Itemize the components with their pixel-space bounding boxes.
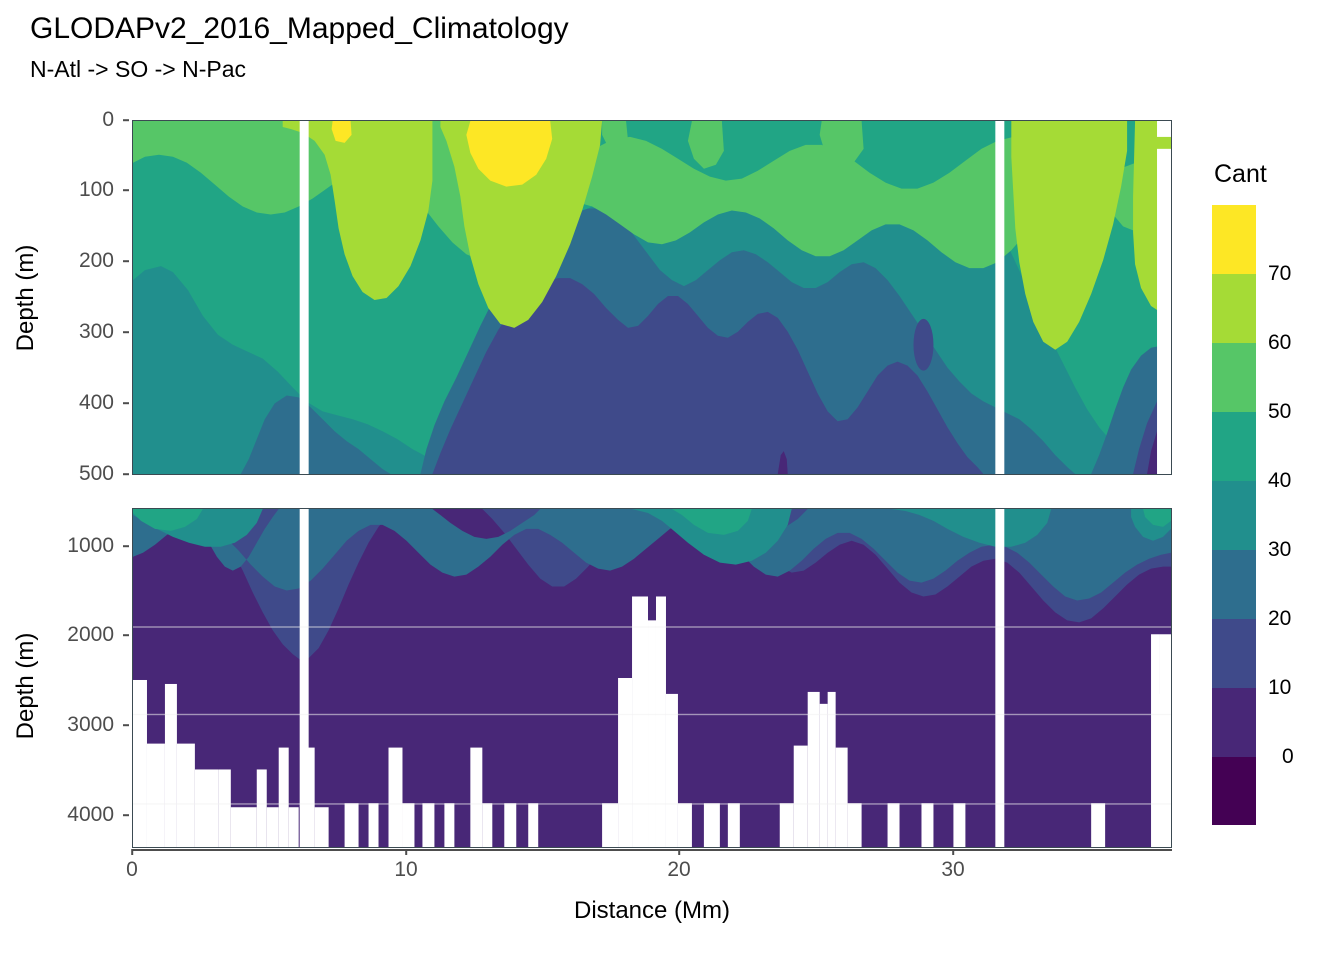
legend-tick-30: 30 [1268,538,1291,562]
deep-ocean-contour-plot [133,509,1171,847]
legend-swatch-gt70 [1212,205,1256,274]
legend-swatch-lt0 [1212,757,1256,825]
upper-ocean-panel [132,120,1172,475]
page-subtitle: N-Atl -> SO -> N-Pac [30,56,246,83]
legend-title: Cant [1214,160,1267,189]
legend-tick-70: 70 [1268,262,1291,286]
x-axis-label: Distance (Mm) [574,897,730,925]
upper-ocean-contour-plot [133,121,1171,474]
y-axis-label-bottom: Depth (m) [12,633,40,740]
legend-tick-50: 50 [1268,400,1291,424]
legend-swatch-40-50 [1212,412,1256,481]
legend-swatch-30-40 [1212,481,1256,550]
legend-swatch-50-60 [1212,343,1256,412]
y-axis-label-top: Depth (m) [12,245,40,352]
legend-tick-20: 20 [1268,607,1291,631]
legend-swatch-20-30 [1212,550,1256,619]
colorbar-legend: Cant 70 60 50 40 30 20 10 0 [1196,160,1336,840]
x-axis-line [132,849,1172,851]
legend-tick-10: 10 [1268,676,1291,700]
legend-tick-40: 40 [1268,469,1291,493]
legend-swatch-60-70 [1212,274,1256,343]
deep-ocean-panel [132,508,1172,848]
legend-swatch-10-20 [1212,619,1256,688]
legend-tick-60: 60 [1268,331,1291,355]
page-title: GLODAPv2_2016_Mapped_Climatology [30,12,569,46]
figure-root: GLODAPv2_2016_Mapped_Climatology N-Atl -… [0,0,1344,960]
legend-tick-0: 0 [1282,745,1294,769]
legend-swatch-0-10 [1212,688,1256,757]
legend-color-bar [1212,205,1256,825]
